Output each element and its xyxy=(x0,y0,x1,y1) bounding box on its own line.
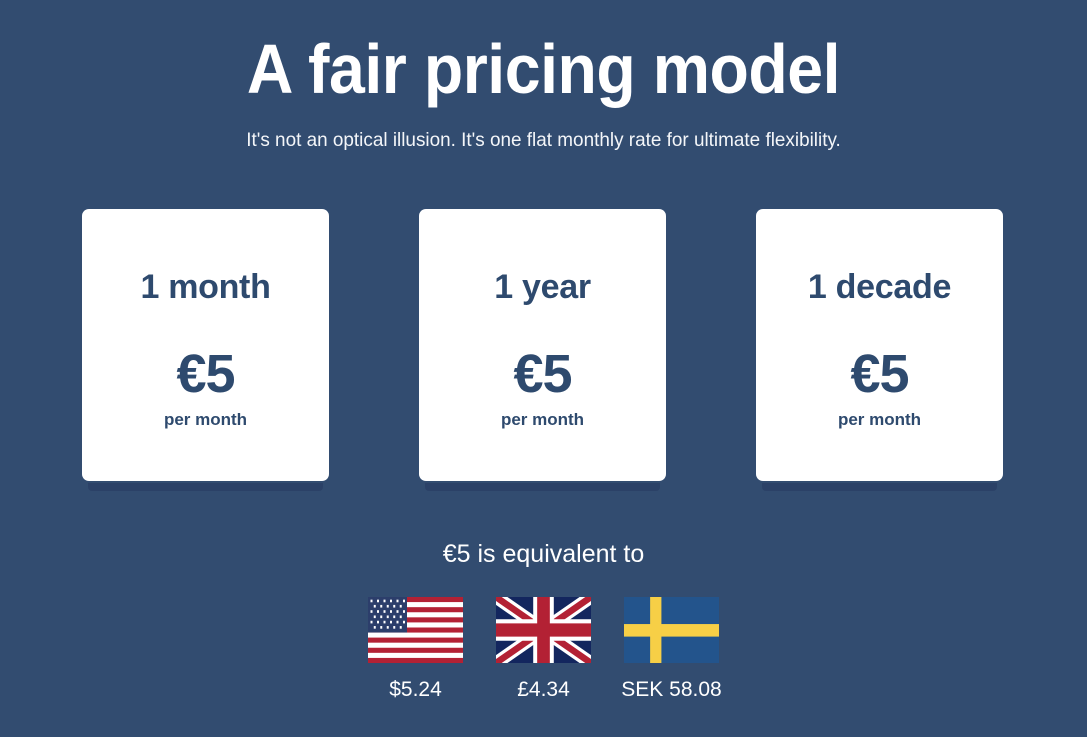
currency-amount: £4.34 xyxy=(517,677,570,703)
pricing-card-price: €5 xyxy=(513,307,571,403)
page-title: A fair pricing model xyxy=(43,26,1043,112)
page-subtitle: It's not an optical illusion. It's one f… xyxy=(16,128,1070,152)
pricing-card-1-month-wrapper: 1 month €5 per month xyxy=(82,209,329,481)
pricing-card-period: per month xyxy=(501,403,584,430)
currency-amount: SEK 58.08 xyxy=(621,677,721,703)
card-shadow xyxy=(88,483,323,491)
flag-sweden-icon xyxy=(624,597,719,663)
currency-item-usd: $5.24 xyxy=(368,597,463,703)
pricing-card-price: €5 xyxy=(176,307,234,403)
pricing-card-1-decade-wrapper: 1 decade €5 per month xyxy=(756,209,1003,481)
currency-list: $5.24 £4.34 xyxy=(0,597,1087,703)
currency-item-sek: SEK 58.08 xyxy=(624,597,719,703)
page-header: A fair pricing model It's not an optical… xyxy=(0,0,1087,152)
currency-item-gbp: £4.34 xyxy=(496,597,591,703)
pricing-card-title: 1 month xyxy=(140,209,270,307)
pricing-card-1-year[interactable]: 1 year €5 per month xyxy=(419,209,666,481)
pricing-card-1-year-wrapper: 1 year €5 per month xyxy=(419,209,666,481)
pricing-cards: 1 month €5 per month 1 year €5 per month… xyxy=(82,209,1003,481)
pricing-card-1-decade[interactable]: 1 decade €5 per month xyxy=(756,209,1003,481)
flag-united-kingdom-icon xyxy=(496,597,591,663)
pricing-page: A fair pricing model It's not an optical… xyxy=(0,0,1087,737)
equivalency-label: €5 is equivalent to xyxy=(0,538,1087,570)
pricing-card-period: per month xyxy=(838,403,921,430)
card-shadow xyxy=(425,483,660,491)
currency-amount: $5.24 xyxy=(389,677,442,703)
pricing-card-price: €5 xyxy=(850,307,908,403)
pricing-card-title: 1 year xyxy=(494,209,591,307)
currency-equivalency-section: €5 is equivalent to xyxy=(0,538,1087,703)
flag-united-states-icon xyxy=(368,597,463,663)
pricing-card-period: per month xyxy=(164,403,247,430)
pricing-card-1-month[interactable]: 1 month €5 per month xyxy=(82,209,329,481)
pricing-card-title: 1 decade xyxy=(808,209,951,307)
card-shadow xyxy=(762,483,997,491)
